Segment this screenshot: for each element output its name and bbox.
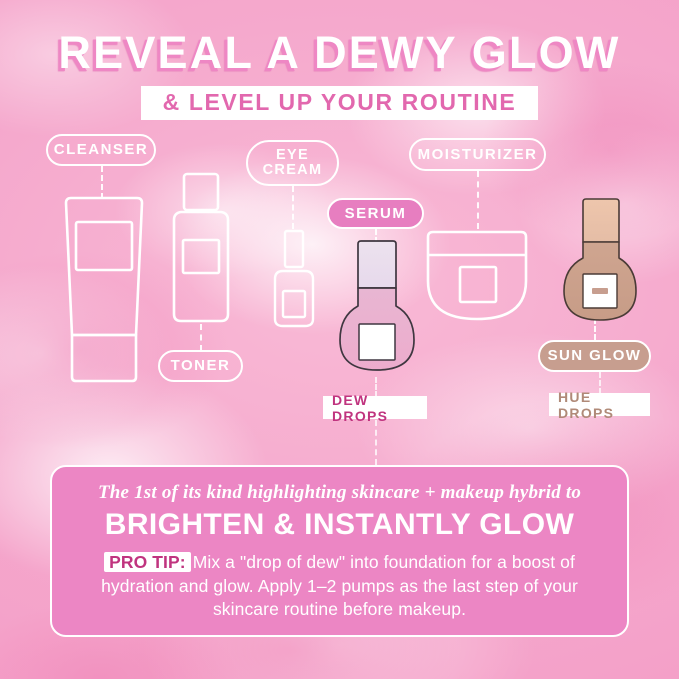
product-tag-label-hue-drops: HUE DROPS bbox=[558, 389, 641, 421]
product-tag-hue-drops: HUE DROPS bbox=[549, 393, 650, 416]
sidebar-item-cleanser[interactable]: CLEANSER bbox=[46, 134, 156, 166]
connector-moisturizer bbox=[477, 171, 479, 229]
infographic-canvas: REVEAL A DEWY GLOW & LEVEL UP YOUR ROUTI… bbox=[0, 0, 679, 679]
pill-label-sun-glow: SUN GLOW bbox=[548, 348, 642, 364]
connector-eye-cream bbox=[292, 186, 294, 229]
sidebar-item-serum[interactable]: SERUM bbox=[327, 198, 424, 229]
sidebar-item-toner[interactable]: TONER bbox=[158, 350, 243, 382]
product-tag-label-dew-drops: DEW DROPS bbox=[332, 392, 418, 424]
pill-label-cleanser: CLEANSER bbox=[54, 142, 149, 158]
sidebar-item-moisturizer[interactable]: MOISTURIZER bbox=[409, 138, 546, 171]
pill-label-eye-cream-line1: EYE bbox=[276, 148, 309, 163]
connector-card bbox=[375, 420, 377, 465]
pill-label-toner: TONER bbox=[171, 358, 231, 374]
sidebar-item-eye-cream[interactable]: EYE CREAM bbox=[246, 140, 339, 186]
product-dew-drops bbox=[337, 240, 417, 380]
callout-card: The 1st of its kind highlighting skincar… bbox=[50, 465, 629, 637]
pill-label-serum: SERUM bbox=[345, 206, 407, 222]
header: REVEAL A DEWY GLOW & LEVEL UP YOUR ROUTI… bbox=[0, 30, 679, 120]
page-subtitle: & LEVEL UP YOUR ROUTINE bbox=[163, 89, 517, 116]
sidebar-item-sun-glow[interactable]: SUN GLOW bbox=[538, 340, 651, 372]
product-moisturizer bbox=[424, 229, 530, 325]
subtitle-band: & LEVEL UP YOUR ROUTINE bbox=[141, 86, 539, 120]
product-cleanser bbox=[56, 195, 152, 385]
pill-label-moisturizer: MOISTURIZER bbox=[418, 147, 538, 163]
product-eye-cream bbox=[271, 229, 317, 329]
callout-headline: BRIGHTEN & INSTANTLY GLOW bbox=[74, 509, 605, 541]
product-tag-dew-drops: DEW DROPS bbox=[323, 396, 427, 419]
callout-body: PRO TIP:Mix a "drop of dew" into foundat… bbox=[74, 551, 605, 621]
connector-toner bbox=[200, 324, 202, 351]
callout-script-line: The 1st of its kind highlighting skincar… bbox=[74, 483, 605, 504]
product-hue-drops bbox=[561, 198, 639, 328]
pro-tip-badge: PRO TIP: bbox=[104, 552, 191, 572]
product-toner bbox=[168, 172, 234, 324]
pill-label-eye-cream-line2: CREAM bbox=[263, 163, 323, 178]
page-title: REVEAL A DEWY GLOW bbox=[0, 30, 679, 75]
